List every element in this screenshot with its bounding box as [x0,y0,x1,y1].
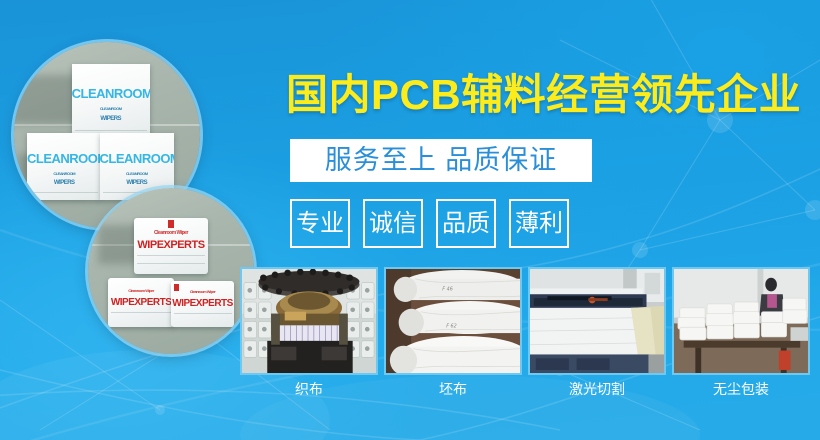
feature-tag-pinzhi[interactable]: 品质 [436,199,496,248]
wiper-pack: Cleanroom Wiper WIPEXPERTS [134,218,207,274]
pack-sub2-text: WIPERS [27,180,101,186]
pack-sub2-text: WIPERS [100,180,174,186]
pack-sub-text: CLEANROOM [72,107,150,111]
feature-tag-baoli[interactable]: 薄利 [509,199,569,248]
laser-cutting-machine-photo [530,269,664,374]
process-thumbnail-laser-cutting[interactable]: 激光切割 [528,267,666,396]
process-thumbnail-weaving[interactable]: 织布 [240,267,378,396]
thumbnail-image-frame: F 46 F 62 [384,267,522,375]
pack-top-text: Cleanroom Wiper [171,290,234,294]
wiper-pack: Cleanroom Wiper WIPEXPERTS [108,278,174,328]
process-thumbnail-row: 织布 [240,267,810,396]
subtitle-band: 服务至上 品质保证 [290,139,592,182]
pack-brand-text: CLEANROOM [100,152,174,165]
pack-red-mark [174,284,179,291]
pack-fold [137,263,204,264]
feature-tag-label: 品质 [442,212,490,236]
pack-sub2-text: WIPERS [72,116,150,122]
fabric-rolls-photo: F 46 F 62 [386,269,520,374]
thumbnail-image-frame [240,267,378,375]
wiper-pack: Cleanroom Wiper WIPEXPERTS [171,281,234,327]
pack-top-text: Cleanroom Wiper [134,231,207,236]
thumbnail-image-frame [672,267,810,375]
pack-brand-text: WIPEXPERTS [171,299,234,309]
pack-sub-text: CLEANROOM [100,172,174,176]
pack-fold [111,312,172,313]
photo-backdrop: Cleanroom Wiper WIPEXPERTS Cleanroom Wip… [88,188,254,354]
pack-brand-text: WIPEXPERTS [108,298,174,308]
feature-tag-label: 诚信 [369,212,417,236]
pack-brand-text: CLEANROOM [27,152,101,165]
thumbnail-caption: 坯布 [384,382,522,396]
pack-fold [75,130,147,131]
pack-brand-text: CLEANROOM [72,87,150,100]
pack-brand-text: WIPEXPERTS [134,240,207,251]
pack-sub-text: CLEANROOM [27,172,101,176]
feature-tag-row: 专业 诚信 品质 薄利 [290,199,569,248]
promo-banner: CLEANROOM CLEANROOM WIPERS CLEANROOM CLE… [0,0,820,440]
packing-room-photo [674,269,808,374]
thumbnail-image-frame [528,267,666,375]
knitting-machine-photo [242,269,376,374]
feature-tag-zhuanye[interactable]: 专业 [290,199,350,248]
thumbnail-caption: 织布 [240,382,378,396]
thumbnail-caption: 激光切割 [528,382,666,396]
pack-fold [137,255,204,256]
svg-text:F 46: F 46 [442,286,453,292]
page-title: 国内PCB辅料经营领先企业 [286,74,786,116]
feature-tag-label: 薄利 [515,212,563,236]
pack-top-text: Cleanroom Wiper [108,289,174,293]
process-thumbnail-greige-fabric[interactable]: F 46 F 62 坯布 [384,267,522,396]
feature-tag-chengxin[interactable]: 诚信 [363,199,423,248]
feature-tag-label: 专业 [296,212,344,236]
pack-fold [174,313,232,314]
thumbnail-caption: 无尘包装 [672,382,810,396]
subtitle-text: 服务至上 品质保证 [325,147,558,174]
svg-text:F 62: F 62 [446,323,457,329]
product-photo-wipexperts: Cleanroom Wiper WIPEXPERTS Cleanroom Wip… [88,188,254,354]
pack-red-mark [168,220,174,228]
wiper-pack: CLEANROOM CLEANROOM WIPERS [72,64,150,138]
process-thumbnail-cleanroom-packing[interactable]: 无尘包装 [672,267,810,396]
